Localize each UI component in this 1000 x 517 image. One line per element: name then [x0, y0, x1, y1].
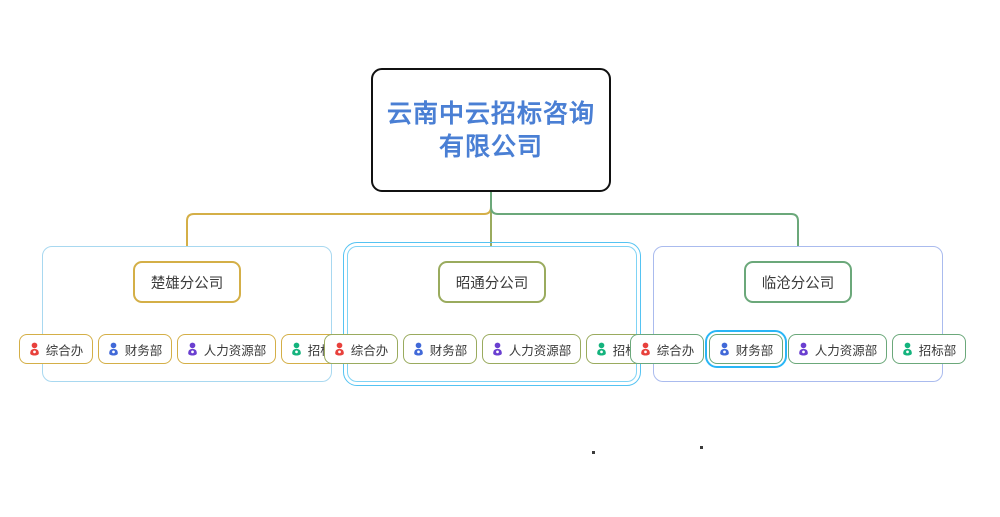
- leaf-node-label: 人力资源部: [509, 340, 572, 359]
- person-icon: [640, 342, 652, 356]
- person-icon: [798, 342, 810, 356]
- leaf-node-label: 招标部: [919, 340, 957, 359]
- leaf-node-chuxiong-0[interactable]: 综合办: [19, 334, 93, 364]
- branch-node-lincang[interactable]: 临沧分公司: [744, 261, 851, 303]
- person-icon: [492, 342, 504, 356]
- branch-node-label: 临沧分公司: [762, 272, 835, 293]
- person-icon: [334, 342, 346, 356]
- person-icon: [108, 342, 120, 356]
- root-node-label: 云南中云招标咨询 有限公司: [387, 97, 595, 163]
- person-icon: [719, 342, 731, 356]
- person-icon: [291, 342, 303, 356]
- leaf-node-lincang-3[interactable]: 招标部: [892, 334, 966, 364]
- root-node[interactable]: 云南中云招标咨询 有限公司: [371, 68, 611, 192]
- leaf-node-chuxiong-2[interactable]: 人力资源部: [177, 334, 276, 364]
- leaf-node-lincang-0[interactable]: 综合办: [630, 334, 704, 364]
- leaf-node-label: 综合办: [657, 340, 695, 359]
- person-icon: [29, 342, 41, 356]
- leaf-node-label: 综合办: [351, 340, 389, 359]
- leaf-node-zhaotong-2[interactable]: 人力资源部: [482, 334, 581, 364]
- branch-node-zhaotong[interactable]: 昭通分公司: [438, 261, 545, 303]
- canvas-speck-1: [700, 446, 703, 449]
- person-icon: [596, 342, 608, 356]
- leaf-node-label: 人力资源部: [815, 340, 878, 359]
- leaf-node-label: 财务部: [430, 340, 468, 359]
- org-chart-canvas[interactable]: 云南中云招标咨询 有限公司 楚雄分公司 综合办 财务部 人力资源部 招标部昭通分…: [0, 0, 1000, 517]
- branch-node-chuxiong[interactable]: 楚雄分公司: [133, 261, 240, 303]
- leaf-node-label: 财务部: [736, 340, 774, 359]
- leaf-node-chuxiong-1[interactable]: 财务部: [98, 334, 172, 364]
- branch-node-label: 昭通分公司: [456, 272, 529, 293]
- leaf-node-lincang-2[interactable]: 人力资源部: [788, 334, 887, 364]
- leaf-node-label: 人力资源部: [204, 340, 267, 359]
- leaf-node-label: 财务部: [125, 340, 163, 359]
- person-icon: [902, 342, 914, 356]
- leaf-node-label: 综合办: [46, 340, 84, 359]
- person-icon: [413, 342, 425, 356]
- leaf-node-zhaotong-0[interactable]: 综合办: [324, 334, 398, 364]
- branch-node-label: 楚雄分公司: [151, 272, 224, 293]
- leaf-node-zhaotong-1[interactable]: 财务部: [403, 334, 477, 364]
- leaf-node-lincang-1[interactable]: 财务部: [709, 334, 783, 364]
- canvas-speck-0: [592, 451, 595, 454]
- person-icon: [187, 342, 199, 356]
